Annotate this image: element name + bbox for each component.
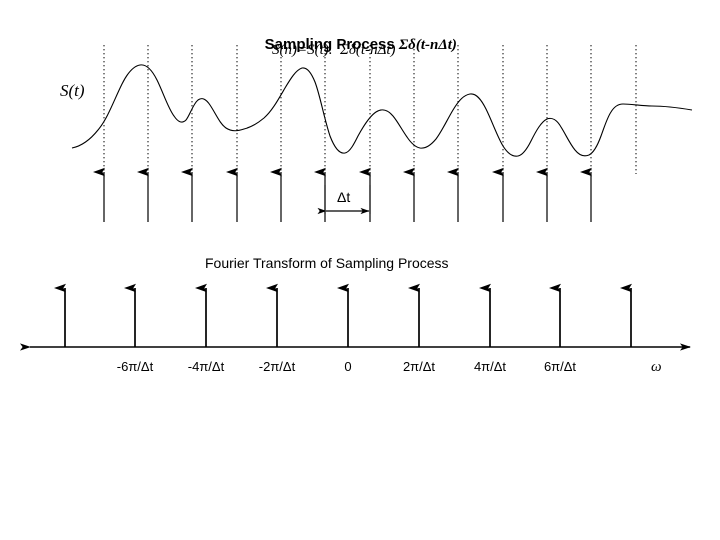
figure-canvas: Sampling Process Σδ(t-nΔt) S(n)=S(t). Σδ… (0, 0, 720, 540)
sampling-impulse-arrows (104, 172, 591, 222)
signal-waveform (72, 65, 692, 156)
sampling-interval-bracket (325, 185, 370, 214)
sampling-guide-lines (104, 45, 636, 174)
figure-vector-layer (0, 0, 720, 540)
frequency-impulse-arrows (65, 288, 631, 347)
